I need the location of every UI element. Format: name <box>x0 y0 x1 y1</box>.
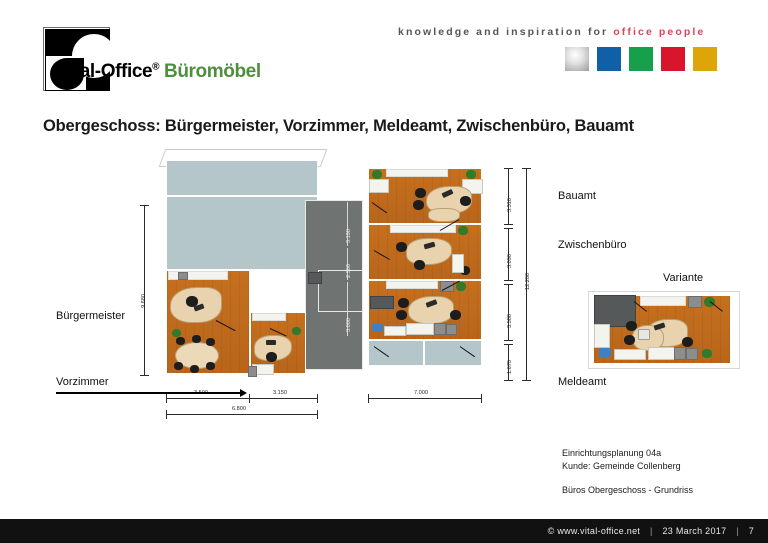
footer-bar: © www.vital-office.net | 23 March 2017 |… <box>0 519 768 543</box>
ba-wall-cabinet <box>386 169 448 177</box>
ba-chair-b <box>413 200 424 210</box>
ma-counter <box>406 323 434 335</box>
dim-left-tick-bottom <box>140 375 149 376</box>
dim-right-1-tick-top <box>504 168 513 169</box>
blue-area-main <box>166 196 318 270</box>
ba-chair-c <box>460 196 471 206</box>
bm-meeting-chair <box>206 362 215 370</box>
ma-printer <box>434 323 446 335</box>
project-info-spacer <box>562 473 693 484</box>
ba-chair-a <box>415 188 426 198</box>
vz-chair <box>266 352 277 362</box>
dim-bottom-1-tick-l <box>166 394 167 403</box>
dim-right-4-text: 1.670 <box>507 360 513 374</box>
dim-right-3-tick-top <box>504 284 513 285</box>
ma-wall-cabinet <box>386 281 438 289</box>
ma-partition <box>370 296 394 309</box>
dim-right-total-tick-top <box>522 168 531 169</box>
dim-right-3-tick-bottom <box>504 340 513 341</box>
variante-blue-object <box>599 348 611 357</box>
blue-area-bottom-right <box>424 340 482 366</box>
label-vorzimmer: Vorzimmer <box>56 376 109 388</box>
ma-blue-object <box>372 324 383 332</box>
header-tagline: knowledge and inspiration for office peo… <box>398 26 705 38</box>
variante-monitor-b <box>638 329 650 340</box>
variante-appliance <box>688 296 702 308</box>
ba-cabinet-left <box>369 179 389 193</box>
label-meldeamt: Meldeamt <box>558 376 606 388</box>
zb-cabinet <box>452 254 464 273</box>
dim-left-text: 9.680 <box>141 294 147 308</box>
ma-plant <box>456 282 466 291</box>
vz-monitor <box>266 340 276 345</box>
bm-plant <box>172 329 181 337</box>
stair-marker <box>308 272 322 284</box>
dim-bottom-right-line <box>368 398 482 399</box>
variante-inset-plan <box>588 291 740 369</box>
silver-swatch <box>565 47 589 71</box>
project-info-line1: Einrichtungsplanung 04a <box>562 447 693 460</box>
ma-chair-a <box>398 298 409 308</box>
blue-area-top <box>166 160 318 196</box>
vz-plant <box>292 327 301 335</box>
variante-cabinet-left <box>594 324 610 348</box>
dim-right-1-tick-bottom <box>504 224 513 225</box>
footer-text: © www.vital-office.net | 23 March 2017 |… <box>548 519 754 543</box>
gold-swatch <box>693 47 717 71</box>
bm-meeting-chair <box>190 365 199 373</box>
dim-bottom-2-line <box>250 398 318 399</box>
dim-bottom-right-tick-l <box>368 394 369 403</box>
variante-low-cabinet <box>614 349 646 360</box>
zb-chair-a <box>396 242 407 252</box>
logo-suffix: Büromöbel <box>164 61 261 82</box>
label-variante: Variante <box>663 272 703 284</box>
footer-separator-1: | <box>643 526 660 536</box>
green-swatch <box>629 47 653 71</box>
project-info-line3: Büros Obergeschoss - Grundriss <box>562 484 693 497</box>
floor-plan-drawing: 3.190 2.300 3.000 9.680 3.310 3.090 3.58… <box>150 150 530 420</box>
dim-right-4-tick-bottom <box>504 380 513 381</box>
blue-swatch <box>597 47 621 71</box>
bm-meeting-chair <box>174 362 183 370</box>
dim-bottom-total-text: 6.800 <box>232 406 246 412</box>
vorzimmer-leader-line <box>56 392 243 394</box>
page-title: Obergeschoss: Bürgermeister, Vorzimmer, … <box>43 117 634 136</box>
variante-plant-bottom <box>702 349 712 358</box>
variante-wall-cabinet <box>640 296 686 306</box>
label-bauamt: Bauamt <box>558 190 596 202</box>
tagline-accent: office people <box>613 26 705 38</box>
vz-wall-cabinet <box>252 313 286 321</box>
dim-right-total-text: 12.200 <box>525 273 531 290</box>
variante-printer <box>674 347 686 360</box>
label-zwischenbuero: Zwischenbüro <box>558 239 626 251</box>
dim-bottom-right-tick-r <box>481 394 482 403</box>
blue-area-bottom-left <box>368 340 424 366</box>
footer-separator-2: | <box>729 526 746 536</box>
ma-chair-c <box>450 310 461 320</box>
project-info-block: Einrichtungsplanung 04a Kunde: Gemeinde … <box>562 447 693 497</box>
dim-left-line <box>144 205 145 375</box>
bm-meeting-chair <box>176 337 185 345</box>
variante-chair-b <box>624 335 635 345</box>
dim-right-3-line <box>508 284 509 340</box>
footer-copyright: © www.vital-office.net <box>548 526 641 536</box>
zb-chair-b <box>414 260 425 270</box>
dim-bottom-right-text: 7.000 <box>414 390 428 396</box>
ba-plant-left <box>372 170 382 179</box>
dim-right-1-line <box>508 168 509 224</box>
dim-right-2-text: 3.090 <box>507 254 513 268</box>
dim-bottom-2-text: 3.150 <box>273 390 287 396</box>
ma-chair-b <box>396 310 407 320</box>
dim-bottom-total-line <box>166 414 318 415</box>
ma-copier <box>446 324 457 335</box>
dim-bottom-total-tick-l <box>166 410 167 419</box>
bm-meeting-chair <box>192 335 201 343</box>
bm-wall-cabinet <box>168 271 228 280</box>
stair-area <box>318 270 363 312</box>
variante-counter <box>648 347 676 360</box>
dim-right-2-tick-bottom <box>504 280 513 281</box>
bm-meeting-chair <box>206 338 215 346</box>
dim-interior-2-text: 2.300 <box>346 264 352 278</box>
variante-chair-a <box>626 321 637 331</box>
vorzimmer-leader-arrow-icon <box>240 389 247 397</box>
dim-interior-1-text: 3.190 <box>346 229 352 243</box>
logo-registered-icon: ® <box>152 62 159 73</box>
dim-right-3-text: 3.580 <box>507 314 513 328</box>
dim-right-total-tick-bottom <box>522 380 531 381</box>
dim-right-2-tick-top <box>504 228 513 229</box>
logo-wordmark: Vital-Office® Büromöbel <box>57 61 261 83</box>
zb-plant <box>458 226 468 235</box>
variante-copier <box>686 348 698 360</box>
logo-name: Vital-Office <box>57 61 152 82</box>
project-info-line2: Kunde: Gemeinde Collenberg <box>562 460 693 473</box>
page-canvas: Vital-Office® Büromöbel knowledge and in… <box>0 0 768 543</box>
dim-bottom-1-line <box>166 398 250 399</box>
dim-right-1-text: 3.310 <box>507 198 513 212</box>
vz-printer <box>248 366 257 377</box>
dim-bottom-2-tick-r <box>317 394 318 403</box>
tagline-main: knowledge and inspiration for <box>398 26 608 38</box>
footer-date: 23 March 2017 <box>662 526 726 536</box>
ma-low-cabinet <box>384 326 406 336</box>
dim-interior-3-text: 3.000 <box>346 318 352 332</box>
brand-swatch-row <box>565 47 717 71</box>
variante-chair-c <box>682 337 693 347</box>
bm-monitor-icon <box>178 272 188 280</box>
dim-bottom-total-tick-r <box>317 410 318 419</box>
label-buergermeister: Bürgermeister <box>56 310 125 322</box>
red-swatch <box>661 47 685 71</box>
dim-right-4-tick-top <box>504 344 513 345</box>
dim-left-tick-top <box>140 205 149 206</box>
footer-page-number: 7 <box>749 526 754 536</box>
ba-plant-right <box>466 170 476 179</box>
